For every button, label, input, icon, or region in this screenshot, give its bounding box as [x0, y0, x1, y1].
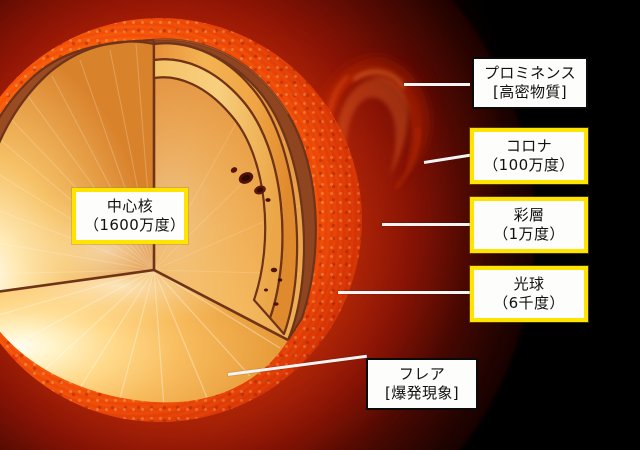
label-corona[interactable]: コロナ （100万度） [470, 128, 588, 184]
label-core-line2: （1600万度） [84, 216, 176, 235]
sun-structure-diagram: プロミネンス [高密物質] コロナ （100万度） 彩層 （1万度） 光球 （6… [0, 0, 640, 450]
label-prominence-line2: [高密物質] [482, 83, 578, 102]
label-prominence-line1: プロミネンス [482, 64, 578, 83]
label-corona-line2: （100万度） [482, 156, 576, 175]
label-chromosphere-line2: （1万度） [482, 225, 576, 244]
label-core-line1: 中心核 [84, 197, 176, 216]
label-flare[interactable]: フレア [爆発現象] [366, 358, 478, 410]
label-chromosphere[interactable]: 彩層 （1万度） [470, 197, 588, 253]
label-photosphere-line1: 光球 [482, 275, 576, 294]
label-chromosphere-line1: 彩層 [482, 206, 576, 225]
label-prominence[interactable]: プロミネンス [高密物質] [472, 57, 588, 109]
label-corona-line1: コロナ [482, 137, 576, 156]
label-core[interactable]: 中心核 （1600万度） [72, 188, 188, 244]
leader-line-chromosphere [382, 223, 472, 226]
label-photosphere[interactable]: 光球 （6千度） [470, 266, 588, 322]
leader-line-prominence [404, 83, 470, 86]
label-photosphere-line2: （6千度） [482, 294, 576, 313]
label-flare-line2: [爆発現象] [376, 384, 468, 403]
leader-line-photosphere [338, 291, 472, 294]
label-flare-line1: フレア [376, 365, 468, 384]
